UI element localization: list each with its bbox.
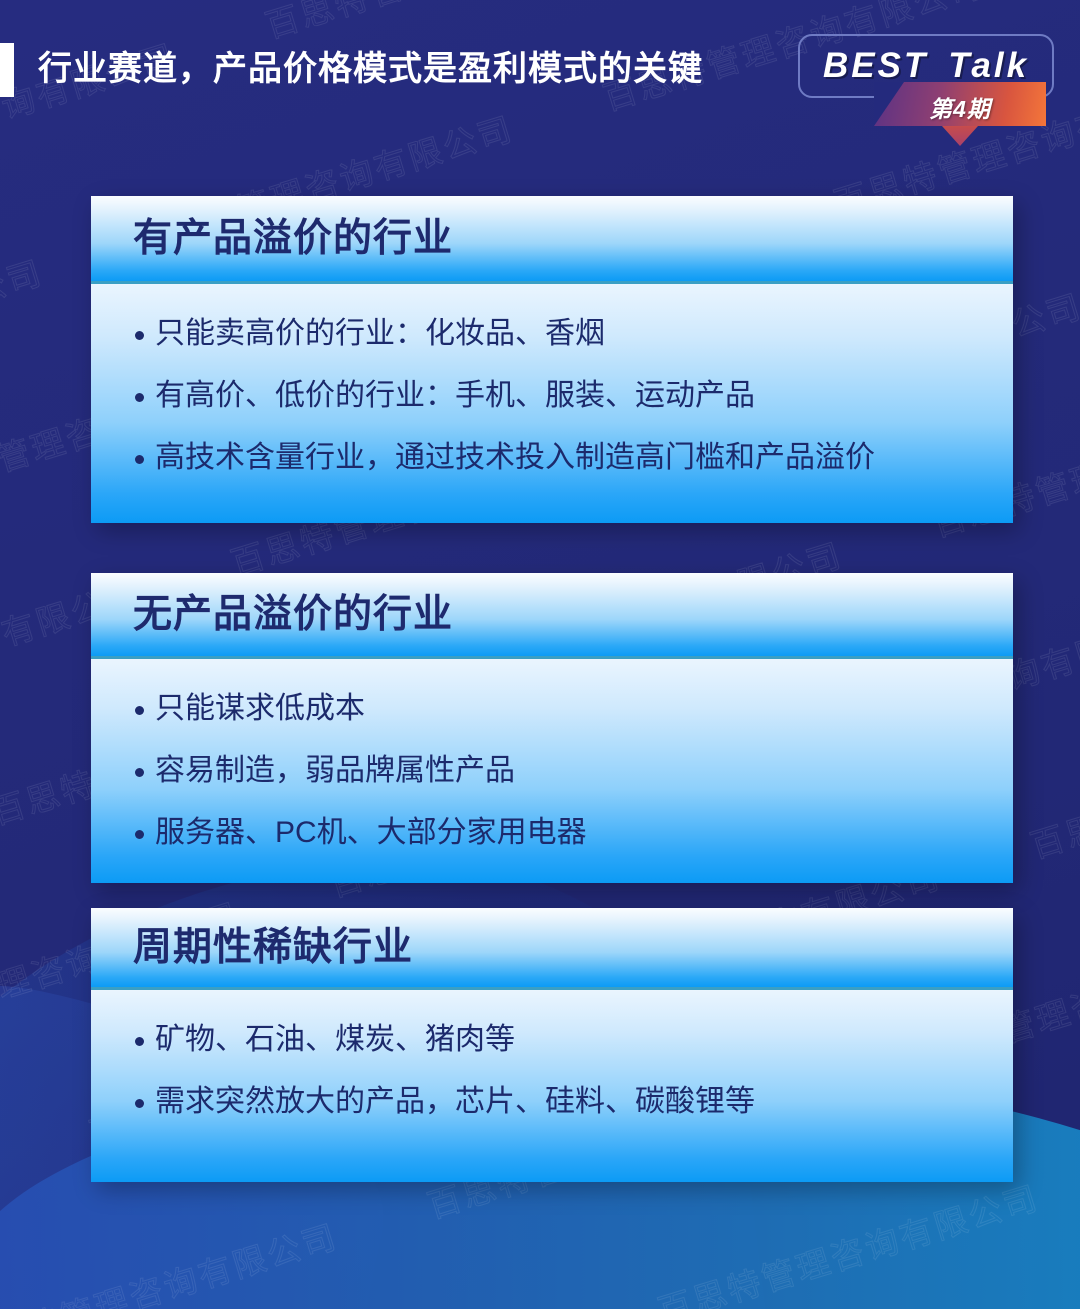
card-title: 周期性稀缺行业 bbox=[133, 928, 413, 967]
card-header: 有产品溢价的行业 bbox=[91, 196, 1013, 284]
bullet-dot-icon bbox=[135, 1099, 144, 1108]
bullet-item: 高技术含量行业，通过技术投入制造高门槛和产品溢价 bbox=[135, 434, 973, 482]
bullet-text: 需求突然放大的产品，芯片、硅料、碳酸锂等 bbox=[155, 1078, 973, 1126]
bullet-dot-icon bbox=[135, 768, 144, 777]
bullet-text: 服务器、PC机、大部分家用电器 bbox=[155, 809, 973, 857]
bullet-text: 有高价、低价的行业：手机、服装、运动产品 bbox=[155, 372, 973, 420]
bullet-dot-icon bbox=[135, 706, 144, 715]
bullet-item: 有高价、低价的行业：手机、服装、运动产品 bbox=[135, 372, 973, 420]
bullet-text: 只能谋求低成本 bbox=[155, 685, 973, 733]
bullet-dot-icon bbox=[135, 1037, 144, 1046]
bullet-text: 容易制造，弱品牌属性产品 bbox=[155, 747, 973, 795]
bullet-item: 只能卖高价的行业：化妆品、香烟 bbox=[135, 310, 973, 358]
bullet-item: 容易制造，弱品牌属性产品 bbox=[135, 747, 973, 795]
card-body: 只能谋求低成本 容易制造，弱品牌属性产品 服务器、PC机、大部分家用电器 bbox=[91, 659, 1013, 883]
slide-header: 行业赛道，产品价格模式是盈利模式的关键 BEST Talk 第4期 bbox=[0, 0, 1080, 138]
bullet-item: 只能谋求低成本 bbox=[135, 685, 973, 733]
episode-ribbon-label: 第4期 bbox=[874, 82, 1046, 138]
card-body: 只能卖高价的行业：化妆品、香烟 有高价、低价的行业：手机、服装、运动产品 高技术… bbox=[91, 284, 1013, 523]
content-card: 周期性稀缺行业 矿物、石油、煤炭、猪肉等 需求突然放大的产品，芯片、硅料、碳酸锂… bbox=[91, 908, 1013, 1182]
card-header: 无产品溢价的行业 bbox=[91, 573, 1013, 659]
bullet-text: 矿物、石油、煤炭、猪肉等 bbox=[155, 1016, 973, 1064]
bullet-dot-icon bbox=[135, 331, 144, 340]
bullet-text: 只能卖高价的行业：化妆品、香烟 bbox=[155, 310, 973, 358]
brand-word-talk: Talk bbox=[948, 46, 1029, 86]
bullet-text: 高技术含量行业，通过技术投入制造高门槛和产品溢价 bbox=[155, 434, 973, 482]
content-card: 有产品溢价的行业 只能卖高价的行业：化妆品、香烟 有高价、低价的行业：手机、服装… bbox=[91, 196, 1013, 523]
title-accent-bar bbox=[0, 43, 14, 97]
brand-logo: BEST Talk 第4期 bbox=[790, 34, 1056, 134]
bullet-dot-icon bbox=[135, 455, 144, 464]
slide-root: 百思特管理咨询有限公司 百思特管理咨询有限公司 百思特管理咨询有限公司 百思特管… bbox=[0, 0, 1080, 1309]
card-title: 无产品溢价的行业 bbox=[133, 595, 453, 634]
content-card: 无产品溢价的行业 只能谋求低成本 容易制造，弱品牌属性产品 服务器、PC机、大部… bbox=[91, 573, 1013, 883]
bullet-dot-icon bbox=[135, 830, 144, 839]
card-header: 周期性稀缺行业 bbox=[91, 908, 1013, 990]
bullet-item: 服务器、PC机、大部分家用电器 bbox=[135, 809, 973, 857]
card-title: 有产品溢价的行业 bbox=[133, 219, 453, 258]
card-body: 矿物、石油、煤炭、猪肉等 需求突然放大的产品，芯片、硅料、碳酸锂等 bbox=[91, 990, 1013, 1182]
bullet-item: 需求突然放大的产品，芯片、硅料、碳酸锂等 bbox=[135, 1078, 973, 1126]
bullet-item: 矿物、石油、煤炭、猪肉等 bbox=[135, 1016, 973, 1064]
bullet-dot-icon bbox=[135, 393, 144, 402]
brand-word-best: BEST bbox=[823, 46, 928, 86]
page-title: 行业赛道，产品价格模式是盈利模式的关键 bbox=[38, 44, 703, 94]
